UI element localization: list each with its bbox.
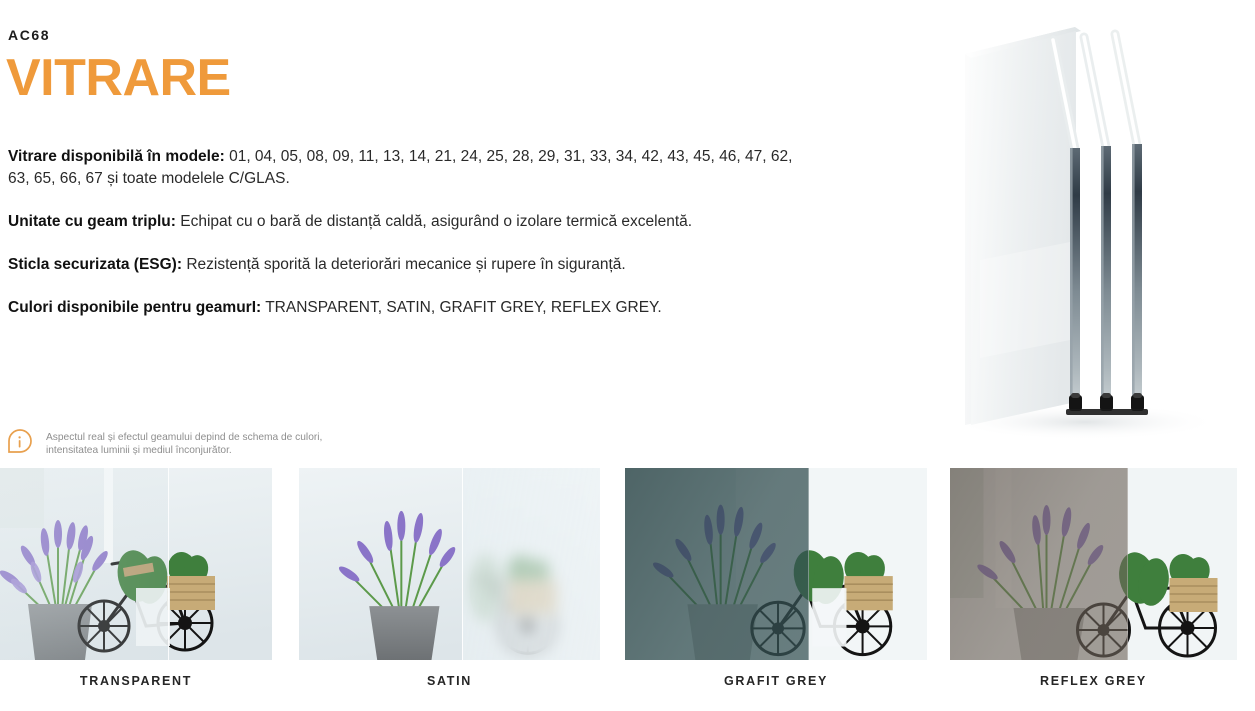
swatch-tile-transparent[interactable]	[0, 468, 272, 660]
info-note-text: Aspectul real și efectul geamului depind…	[46, 428, 322, 457]
product-code-label: AC68	[8, 27, 50, 43]
paragraph-safety-glass: Sticla securizata (ESG): Rezistență spor…	[8, 254, 808, 276]
description-block: Vitrare disponibilă în modele: 01, 04, 0…	[8, 146, 808, 319]
swatch-caption-reflex-grey: REFLEX GREY	[950, 674, 1237, 688]
paragraph-lead: Vitrare disponibilă în modele:	[8, 148, 225, 165]
swatch-caption-satin: SATIN	[299, 674, 600, 688]
info-icon	[6, 428, 36, 458]
paragraph-colours: Culori disponibile pentru geamurI: TRANS…	[8, 297, 808, 319]
lavender-bicycle-photo	[299, 468, 600, 660]
lavender-bicycle-photo	[625, 468, 927, 660]
vitrare-spec-page: AC68 VITRARE Vitrare disponibilă în mode…	[0, 0, 1255, 711]
paragraph-text: Echipat cu o bară de distanță caldă, asi…	[176, 213, 692, 230]
paragraph-lead: Unitate cu geam triplu:	[8, 213, 176, 230]
swatch-tile-reflex-grey[interactable]	[950, 468, 1237, 660]
glass-colour-swatch-row	[0, 468, 1255, 660]
swatch-tile-grafit-grey[interactable]	[625, 468, 927, 660]
triple-glazing-illustration	[870, 10, 1255, 460]
lavender-bicycle-photo	[0, 468, 272, 660]
paragraph-lead: Culori disponibile pentru geamurI:	[8, 299, 261, 316]
paragraph-lead: Sticla securizata (ESG):	[8, 256, 182, 273]
paragraph-text: Rezistență sporită la deteriorări mecani…	[182, 256, 626, 273]
paragraph-models: Vitrare disponibilă în modele: 01, 04, 0…	[8, 146, 808, 190]
swatch-caption-transparent: TRANSPARENT	[0, 674, 272, 688]
lavender-bicycle-photo	[950, 468, 1237, 660]
page-title: VITRARE	[6, 52, 231, 104]
info-note: Aspectul real și efectul geamului depind…	[6, 428, 322, 458]
swatch-caption-grafit-grey: GRAFIT GREY	[625, 674, 927, 688]
paragraph-text: TRANSPARENT, SATIN, GRAFIT GREY, REFLEX …	[261, 299, 662, 316]
paragraph-triple-glazing: Unitate cu geam triplu: Echipat cu o bar…	[8, 211, 808, 233]
swatch-tile-satin[interactable]	[299, 468, 600, 660]
